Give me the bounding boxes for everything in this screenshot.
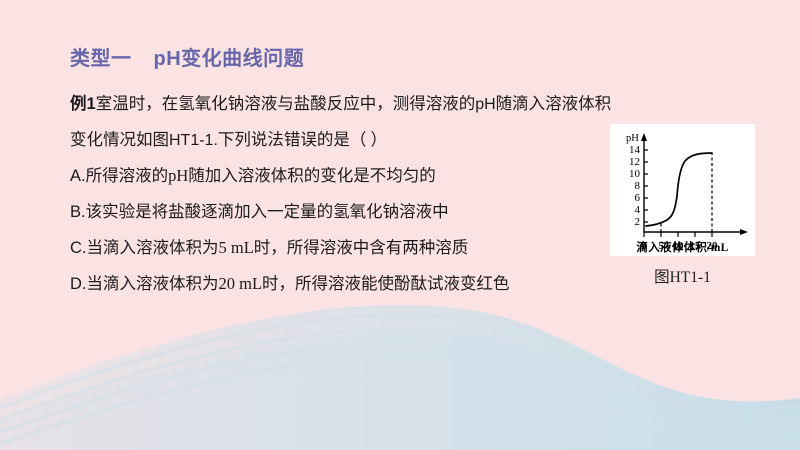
option-d-text: 当滴入溶液体积为20 mL时，所得溶液能使酚酞试液变红色: [87, 274, 510, 293]
y-axis-label-text: pH: [626, 133, 639, 144]
section-heading-type: 类型一: [70, 48, 132, 70]
stem-text-part-2: 随滴入溶液体积: [496, 94, 612, 113]
option-d-letter: D.: [70, 275, 87, 293]
stem-text-part-1: 室温时，在氢氧化钠溶液与盐酸反应中，测得溶液的: [96, 94, 476, 113]
stem-text-part-3: 变化情况如图: [70, 130, 169, 149]
stem-figure-ref: HT1-1.: [169, 132, 218, 149]
figure-caption-id: HT1-1: [670, 269, 711, 286]
option-c-text: 当滴入溶液体积为5 mL时，所得溶液中含有两种溶质: [87, 238, 469, 257]
answer-bracket: （ ）: [350, 130, 387, 149]
ph-curve-figure: pH 2 4 6 8 10 12 14 0 5 10 15 20 滴入液体体积/…: [610, 124, 755, 256]
option-c-letter: C.: [70, 239, 87, 257]
svg-text:14: 14: [629, 144, 641, 156]
svg-text:6: 6: [635, 192, 641, 204]
stem-ph-label: pH: [475, 96, 495, 113]
option-a-letter: A.: [70, 167, 86, 185]
svg-text:12: 12: [629, 156, 640, 168]
question-stem-line-1: 例1室温时，在氢氧化钠溶液与盐酸反应中，测得溶液的pH随滴入溶液体积: [70, 86, 730, 122]
svg-text:8: 8: [635, 180, 641, 192]
svg-text:10: 10: [629, 168, 641, 180]
option-b-text: 该实验是将盐酸逐滴加入一定量的氢氧化钠溶液中: [86, 202, 449, 221]
svg-text:4: 4: [635, 204, 641, 216]
example-number: 例1: [70, 95, 96, 113]
figure-container: pH 2 4 6 8 10 12 14 0 5 10 15 20 滴入液体体积/…: [610, 124, 755, 287]
svg-text:2: 2: [635, 216, 641, 228]
stem-text-part-4: 下列说法错误的是: [218, 130, 350, 149]
ph-curve-chart: pH 2 4 6 8 10 12 14 0 5 10 15 20: [610, 124, 755, 256]
option-b-letter: B.: [70, 203, 86, 221]
section-heading: 类型一pH变化曲线问题: [70, 42, 304, 71]
x-axis-label: 滴入液体体积/mL: [610, 239, 755, 255]
section-heading-title: pH变化曲线问题: [154, 48, 305, 70]
figure-caption-prefix: 图: [654, 269, 670, 286]
figure-caption: 图HT1-1: [610, 265, 755, 287]
option-a-text: 所得溶液的pH随加入溶液体积的变化是不均匀的: [86, 166, 436, 185]
